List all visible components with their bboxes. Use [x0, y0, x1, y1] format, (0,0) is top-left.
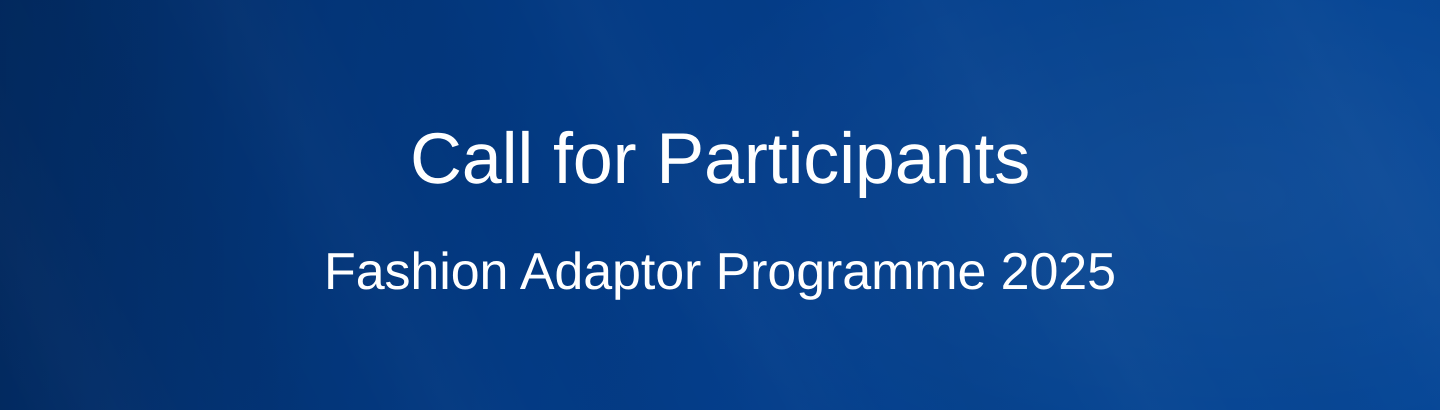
- banner-subtitle: Fashion Adaptor Programme 2025: [324, 246, 1116, 298]
- banner-headline: Call for Participants: [410, 123, 1030, 195]
- banner-content: Call for Participants Fashion Adaptor Pr…: [0, 0, 1440, 410]
- call-for-participants-banner: Call for Participants Fashion Adaptor Pr…: [0, 0, 1440, 410]
